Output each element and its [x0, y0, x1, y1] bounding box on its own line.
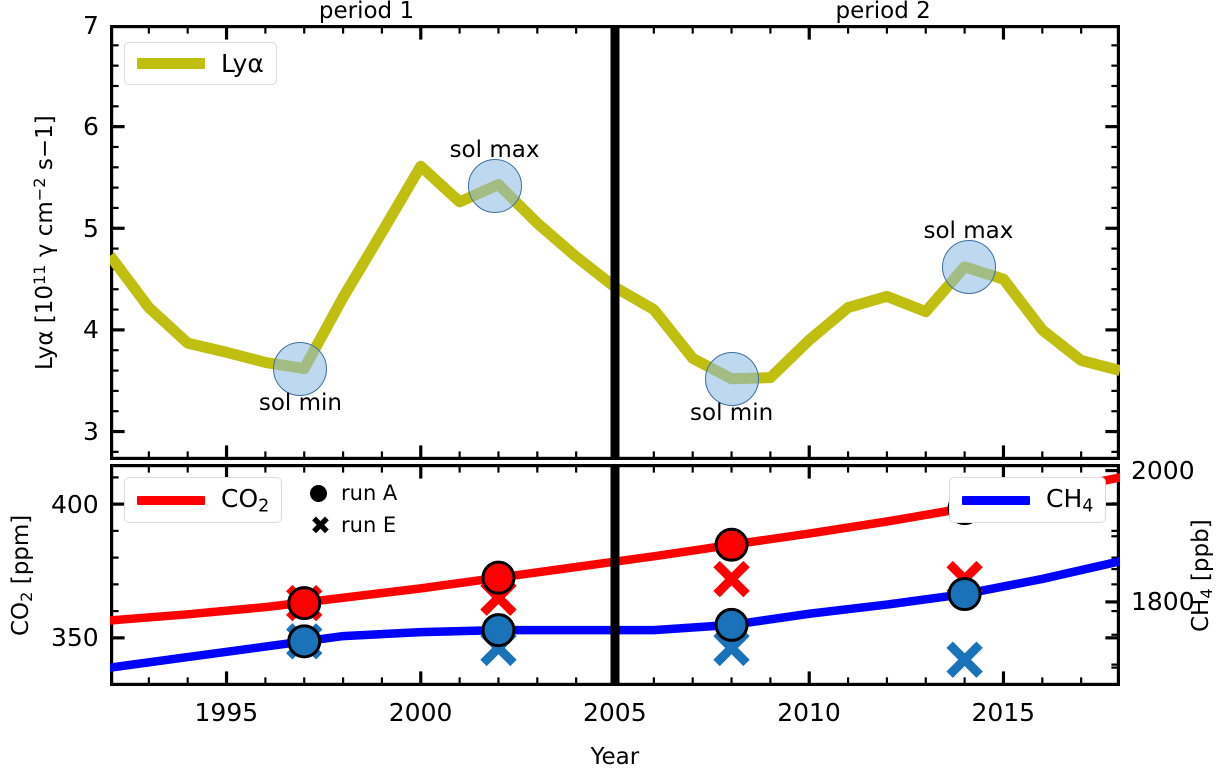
figure-root: period 1 period 2 Lyα [1011 γ cm−2 s−1] … — [0, 0, 1226, 759]
bottom-right-y-tick-label: 1800 — [1131, 587, 1195, 616]
tick-labels-layer: 199520002005201020153456735040018002000 — [0, 0, 1226, 759]
top-y-tick-label: 6 — [83, 112, 99, 141]
x-tick-label: 2005 — [583, 698, 647, 727]
x-tick-label: 2000 — [389, 698, 453, 727]
top-y-tick-label: 7 — [83, 11, 99, 40]
top-y-tick-label: 4 — [83, 315, 99, 344]
x-tick-label: 1995 — [195, 698, 259, 727]
bottom-left-y-tick-label: 400 — [51, 490, 99, 519]
bottom-right-y-tick-label: 2000 — [1131, 456, 1195, 485]
bottom-left-y-tick-label: 350 — [51, 623, 99, 652]
x-tick-label: 2010 — [777, 698, 841, 727]
top-y-tick-label: 3 — [83, 417, 99, 446]
top-y-tick-label: 5 — [83, 214, 99, 243]
x-tick-label: 2015 — [971, 698, 1035, 727]
